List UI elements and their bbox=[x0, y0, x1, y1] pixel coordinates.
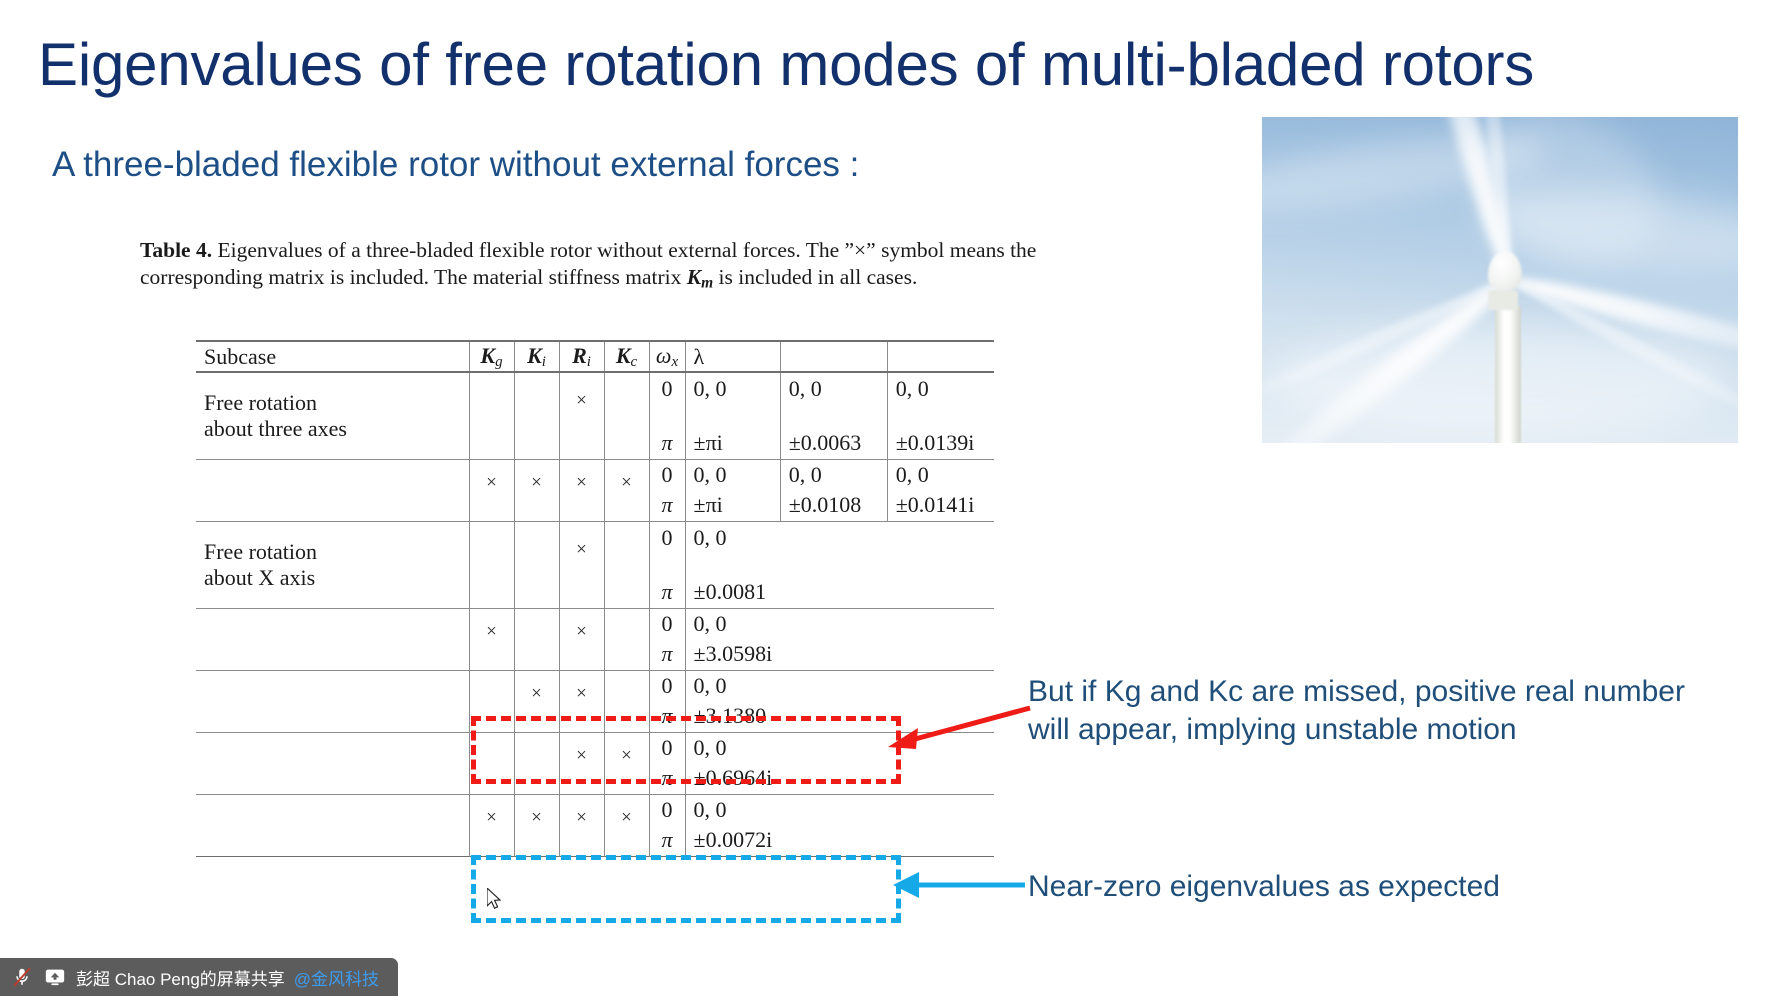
cell-omega: π bbox=[649, 490, 685, 521]
cell-kg bbox=[469, 372, 514, 459]
cell-ri: × bbox=[559, 459, 604, 521]
cell-omega: 0 bbox=[649, 372, 685, 428]
col-header-ki: Ki bbox=[514, 341, 559, 372]
table-caption: Table 4. Eigenvalues of a three-bladed f… bbox=[140, 237, 1050, 292]
turbine-tower bbox=[1495, 306, 1521, 443]
col-header-lambda-2 bbox=[780, 341, 887, 372]
cell-omega: 0 bbox=[649, 521, 685, 577]
red-arrow bbox=[880, 700, 1040, 760]
cell-kc bbox=[604, 372, 649, 459]
cell-lambda-2: 0, 0 bbox=[780, 459, 887, 490]
cell-lambda-1: ±0.0072i bbox=[685, 825, 780, 856]
cell-kg: × bbox=[469, 794, 514, 856]
cell-ki bbox=[514, 372, 559, 459]
cell-lambda-2: ±0.0108 bbox=[780, 490, 887, 521]
cell-kc bbox=[604, 521, 649, 608]
cell-lambda-3: 0, 0 bbox=[887, 372, 994, 428]
cell-kc bbox=[604, 608, 649, 670]
cyan-arrow bbox=[885, 865, 1035, 905]
subcase-name-cell bbox=[196, 670, 469, 732]
table-row-highlighted-red: × × 0 0, 0 bbox=[196, 670, 994, 701]
annotation-red-text: But if Kg and Kc are missed, positive re… bbox=[1028, 673, 1728, 750]
turbine-hub bbox=[1488, 251, 1522, 291]
share-bar-tag: @金风科技 bbox=[294, 965, 379, 990]
cell-lambda-3 bbox=[887, 577, 994, 608]
cell-lambda-1: ±πi bbox=[685, 490, 780, 521]
col-header-lambda: λ bbox=[685, 341, 780, 372]
screen-share-icon[interactable] bbox=[43, 966, 67, 988]
table-row: × × × × 0 0, 0 0, 0 0, 0 bbox=[196, 459, 994, 490]
wind-turbine-photo bbox=[1262, 117, 1738, 443]
cyan-highlight-box bbox=[471, 855, 901, 923]
slide-subtitle: A three-bladed flexible rotor without ex… bbox=[52, 145, 859, 185]
cell-ki bbox=[514, 608, 559, 670]
col-header-lambda-3 bbox=[887, 341, 994, 372]
cell-omega: π bbox=[649, 639, 685, 670]
subcase-name-cell bbox=[196, 459, 469, 521]
screen-share-bar[interactable]: 彭超 Chao Peng的屏幕共享 @金风科技 bbox=[0, 958, 398, 996]
cell-lambda-2: 0, 0 bbox=[780, 372, 887, 428]
subcase-name-line2: about X axis bbox=[204, 565, 461, 591]
cell-omega: π bbox=[649, 577, 685, 608]
table-row: Free rotation about three axes × 0 0, 0 … bbox=[196, 372, 994, 428]
subcase-name-cell: Free rotation about X axis bbox=[196, 521, 469, 608]
cell-lambda-2 bbox=[780, 608, 887, 639]
cell-ri: × bbox=[559, 794, 604, 856]
subcase-name-cell: Free rotation about three axes bbox=[196, 372, 469, 459]
cell-lambda-1: 0, 0 bbox=[685, 670, 780, 701]
cell-ki: × bbox=[514, 794, 559, 856]
cell-lambda-1: 0, 0 bbox=[685, 372, 780, 428]
subcase-name-line1: Free rotation bbox=[204, 539, 461, 565]
km-subscript: m bbox=[701, 274, 713, 291]
presentation-slide: Eigenvalues of free rotation modes of mu… bbox=[0, 0, 1768, 996]
cell-lambda-3: ±0.0139i bbox=[887, 428, 994, 459]
cell-lambda-3 bbox=[887, 763, 994, 794]
table-row-highlighted-cyan: × × × × 0 0, 0 bbox=[196, 794, 994, 825]
col-header-kc: Kc bbox=[604, 341, 649, 372]
turbine-nacelle bbox=[1488, 290, 1518, 310]
cell-lambda-3 bbox=[887, 521, 994, 577]
cell-lambda-2 bbox=[780, 794, 887, 825]
cell-lambda-3 bbox=[887, 608, 994, 639]
col-header-subcase: Subcase bbox=[196, 341, 469, 372]
cell-kg: × bbox=[469, 608, 514, 670]
table-row: Free rotation about X axis × 0 0, 0 bbox=[196, 521, 994, 577]
cell-omega: 0 bbox=[649, 459, 685, 490]
cell-ki bbox=[514, 521, 559, 608]
cell-lambda-3 bbox=[887, 670, 994, 701]
cell-lambda-2: ±0.0063 bbox=[780, 428, 887, 459]
annotation-cyan-text: Near-zero eigenvalues as expected bbox=[1028, 868, 1728, 906]
cell-lambda-1: ±πi bbox=[685, 428, 780, 459]
red-highlight-box bbox=[471, 716, 901, 784]
cell-lambda-3 bbox=[887, 825, 994, 856]
subcase-name-cell bbox=[196, 732, 469, 794]
share-bar-label: 彭超 Chao Peng的屏幕共享 bbox=[76, 965, 285, 990]
cell-kc: × bbox=[604, 459, 649, 521]
page-title: Eigenvalues of free rotation modes of mu… bbox=[38, 33, 1534, 96]
cell-omega: 0 bbox=[649, 670, 685, 701]
subcase-name-cell bbox=[196, 794, 469, 856]
microphone-muted-icon[interactable] bbox=[10, 966, 34, 988]
cell-omega: 0 bbox=[649, 608, 685, 639]
cell-ki: × bbox=[514, 459, 559, 521]
subcase-name-line2: about three axes bbox=[204, 416, 461, 442]
subcase-name-cell bbox=[196, 608, 469, 670]
col-header-omega: ωx bbox=[649, 341, 685, 372]
cell-lambda-1: 0, 0 bbox=[685, 459, 780, 490]
cell-lambda-2 bbox=[780, 577, 887, 608]
table-caption-label: Table 4. bbox=[140, 238, 212, 262]
cell-ri: × bbox=[559, 521, 604, 608]
cell-lambda-3 bbox=[887, 794, 994, 825]
cell-kg: × bbox=[469, 459, 514, 521]
mouse-cursor-icon bbox=[487, 888, 505, 914]
col-header-kg: Kg bbox=[469, 341, 514, 372]
cell-omega: π bbox=[649, 825, 685, 856]
table-caption-line3: is included in all cases. bbox=[719, 265, 918, 289]
subcase-name-line1: Free rotation bbox=[204, 390, 461, 416]
cell-ri: × bbox=[559, 372, 604, 459]
cell-lambda-2 bbox=[780, 639, 887, 670]
cell-lambda-2 bbox=[780, 521, 887, 577]
cell-lambda-3 bbox=[887, 639, 994, 670]
cell-lambda-1: ±0.0081 bbox=[685, 577, 780, 608]
cell-lambda-1: ±3.0598i bbox=[685, 639, 780, 670]
cell-omega: π bbox=[649, 428, 685, 459]
cell-ri: × bbox=[559, 608, 604, 670]
cell-lambda-1: 0, 0 bbox=[685, 608, 780, 639]
table-header-row: Subcase Kg Ki Ri Kc ωx λ bbox=[196, 341, 994, 372]
cell-lambda-3: 0, 0 bbox=[887, 459, 994, 490]
cell-lambda-1: 0, 0 bbox=[685, 521, 780, 577]
cell-kg bbox=[469, 521, 514, 608]
cell-lambda-2 bbox=[780, 825, 887, 856]
cell-lambda-2 bbox=[780, 670, 887, 701]
cell-omega: 0 bbox=[649, 794, 685, 825]
cell-lambda-1: 0, 0 bbox=[685, 794, 780, 825]
table-row: × × 0 0, 0 bbox=[196, 608, 994, 639]
km-symbol: K bbox=[687, 265, 701, 289]
col-header-ri: Ri bbox=[559, 341, 604, 372]
cell-lambda-3: ±0.0141i bbox=[887, 490, 994, 521]
table-caption-line1: Eigenvalues of a three-bladed flexible r… bbox=[212, 238, 876, 262]
cell-kc: × bbox=[604, 794, 649, 856]
